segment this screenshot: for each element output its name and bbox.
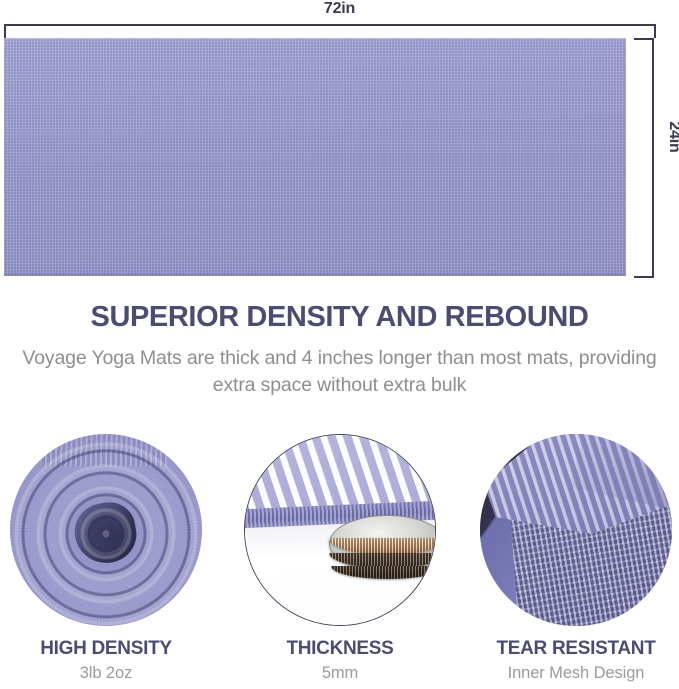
mat-dimension-diagram: 72in 24in — [0, 0, 679, 290]
headline-block: SUPERIOR DENSITY AND REBOUND Voyage Yoga… — [0, 300, 679, 400]
feature-subtitle: Inner Mesh Design — [480, 664, 672, 683]
feature-subtitle: 5mm — [244, 664, 436, 683]
feature-subtitle: 3lb 2oz — [10, 664, 202, 683]
folded-mat-corner — [480, 434, 672, 626]
mat-roll-core — [71, 498, 142, 567]
feature-row: HIGH DENSITY 3lb 2oz THICKNESS 5mm — [0, 434, 679, 689]
thickness-photo — [244, 434, 436, 626]
page-subtitle: Voyage Yoga Mats are thick and 4 inches … — [18, 345, 661, 400]
yoga-mat-top-view — [4, 38, 626, 276]
height-dimension-bracket — [634, 38, 654, 278]
mat-edge-with-coins — [245, 435, 435, 625]
width-dimension-label: 72in — [0, 0, 679, 18]
height-dimension-label: 24in — [665, 105, 679, 169]
rolled-mat-photo — [10, 434, 202, 626]
mat-roll-top-highlight — [41, 434, 168, 467]
width-dimension-bracket — [4, 24, 656, 38]
feature-title: THICKNESS — [244, 638, 436, 660]
flap-shadow — [564, 434, 672, 512]
feature-title: TEAR RESISTANT — [480, 638, 672, 660]
feature-item: TEAR RESISTANT Inner Mesh Design — [480, 434, 672, 683]
feature-item: THICKNESS 5mm — [244, 434, 436, 683]
feature-title: HIGH DENSITY — [10, 638, 202, 660]
page-title: SUPERIOR DENSITY AND REBOUND — [0, 300, 679, 335]
feature-item: HIGH DENSITY 3lb 2oz — [10, 434, 202, 683]
tear-resistant-photo — [480, 434, 672, 626]
mat-roll-spiral — [10, 434, 202, 626]
